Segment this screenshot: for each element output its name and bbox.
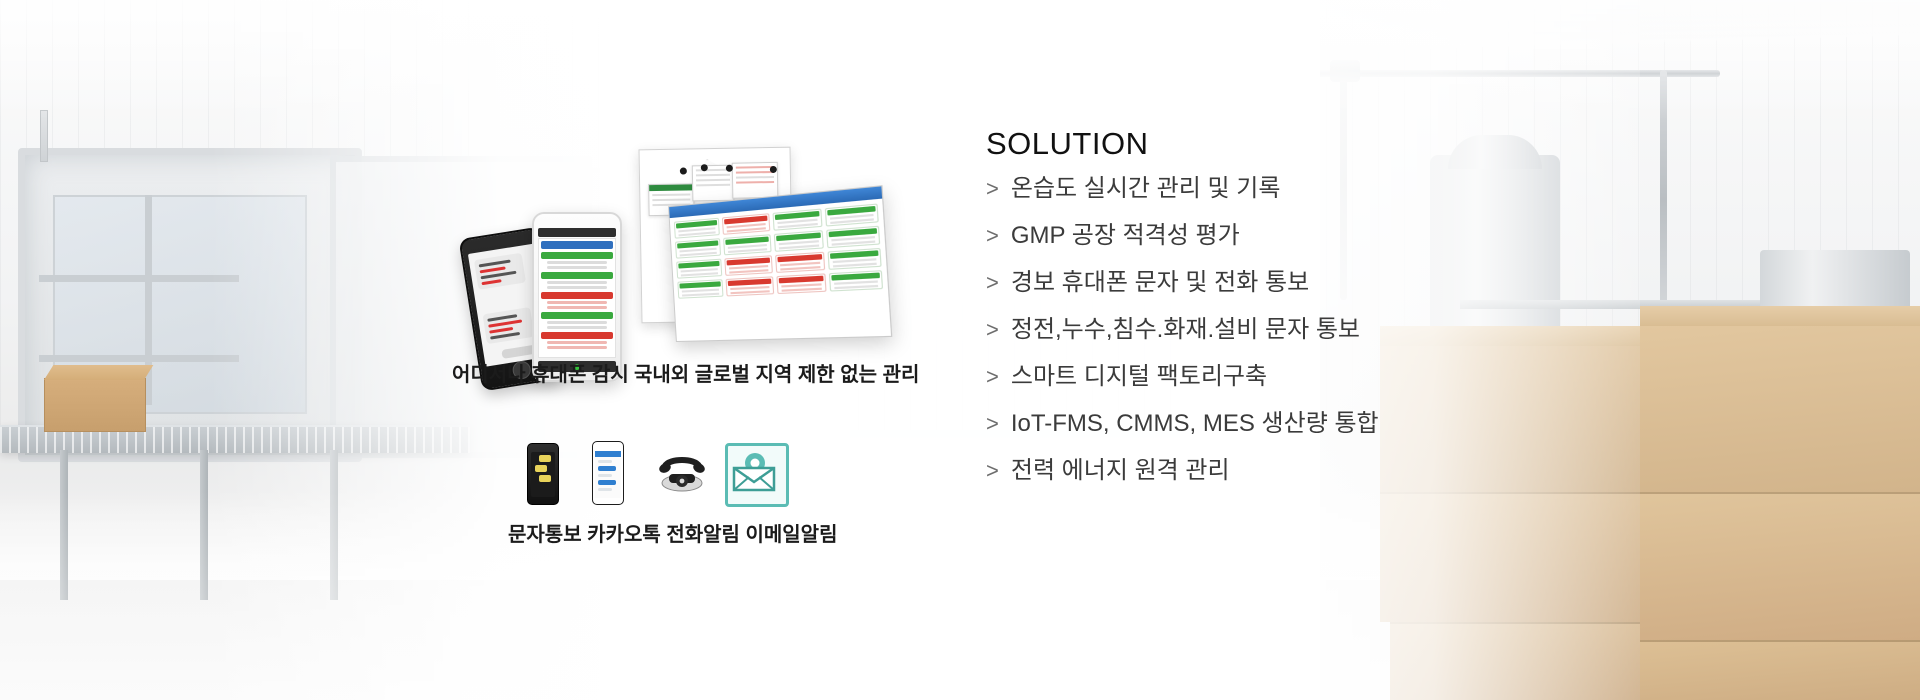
solution-banner: 어디서나 휴대폰 감시 국내외 글로벌 지역 제한 없는 관리 문자통보 카카오… (0, 0, 1920, 700)
chevron-right-icon: > (986, 363, 999, 391)
solution-list-item: > 스마트 디지털 팩토리구축 (986, 363, 1546, 410)
email-notification-icon (725, 443, 789, 507)
kakao-header-bar (595, 451, 621, 457)
product-visuals: 어디서나 휴대폰 감시 국내외 글로벌 지역 제한 없는 관리 문자통보 카카오… (0, 0, 900, 700)
page-title: SOLUTION (986, 128, 1546, 159)
chevron-right-icon: > (986, 316, 999, 344)
carton-seam (1640, 492, 1920, 494)
notification-icons (0, 0, 900, 700)
chevron-right-icon: > (986, 175, 999, 203)
chevron-right-icon: > (986, 222, 999, 250)
carton-box (1640, 492, 1920, 640)
chevron-right-icon: > (986, 457, 999, 485)
solution-item-label: GMP 공장 적격성 평가 (1011, 222, 1240, 250)
phone-call-notification-icon (655, 450, 709, 494)
solution-list-item: > IoT-FMS, CMMS, MES 생산량 통합 (986, 410, 1546, 457)
solution-list-item: > 전력 에너지 원격 관리 (986, 457, 1546, 504)
solution-item-label: 스마트 디지털 팩토리구축 (1011, 363, 1267, 391)
sms-notification-icon (527, 443, 559, 505)
chevron-right-icon: > (986, 410, 999, 438)
carton-box (1640, 326, 1920, 492)
solution-panel: SOLUTION > 온습도 실시간 관리 및 기록 > GMP 공장 적격성 … (986, 128, 1546, 504)
solution-list: > 온습도 실시간 관리 및 기록 > GMP 공장 적격성 평가 > 경보 휴… (986, 175, 1546, 504)
solution-list-item: > 온습도 실시간 관리 및 기록 (986, 175, 1546, 222)
kakaotalk-notification-icon (592, 441, 624, 505)
solution-list-item: > GMP 공장 적격성 평가 (986, 222, 1546, 269)
sms-yellow-bubble (535, 465, 547, 472)
solution-item-label: 온습도 실시간 관리 및 기록 (1011, 175, 1281, 203)
solution-item-label: 경보 휴대폰 문자 및 전화 통보 (1011, 269, 1309, 297)
sms-yellow-bubble (539, 455, 551, 462)
solution-item-label: IoT-FMS, CMMS, MES 생산량 통합 (1011, 410, 1379, 438)
carton-seam (1640, 640, 1920, 642)
sms-icon-screen (531, 452, 555, 497)
sms-yellow-bubble (539, 475, 551, 482)
kakaotalk-icon-screen (595, 451, 621, 498)
solution-list-item: > 정전,누수,침수.화재.설비 문자 통보 (986, 316, 1546, 363)
solution-item-label: 전력 에너지 원격 관리 (1011, 457, 1230, 485)
solution-item-label: 정전,누수,침수.화재.설비 문자 통보 (1011, 316, 1360, 344)
solution-list-item: > 경보 휴대폰 문자 및 전화 통보 (986, 269, 1546, 316)
carton-lid (1640, 306, 1920, 326)
chevron-right-icon: > (986, 269, 999, 297)
carton-box (1640, 640, 1920, 700)
